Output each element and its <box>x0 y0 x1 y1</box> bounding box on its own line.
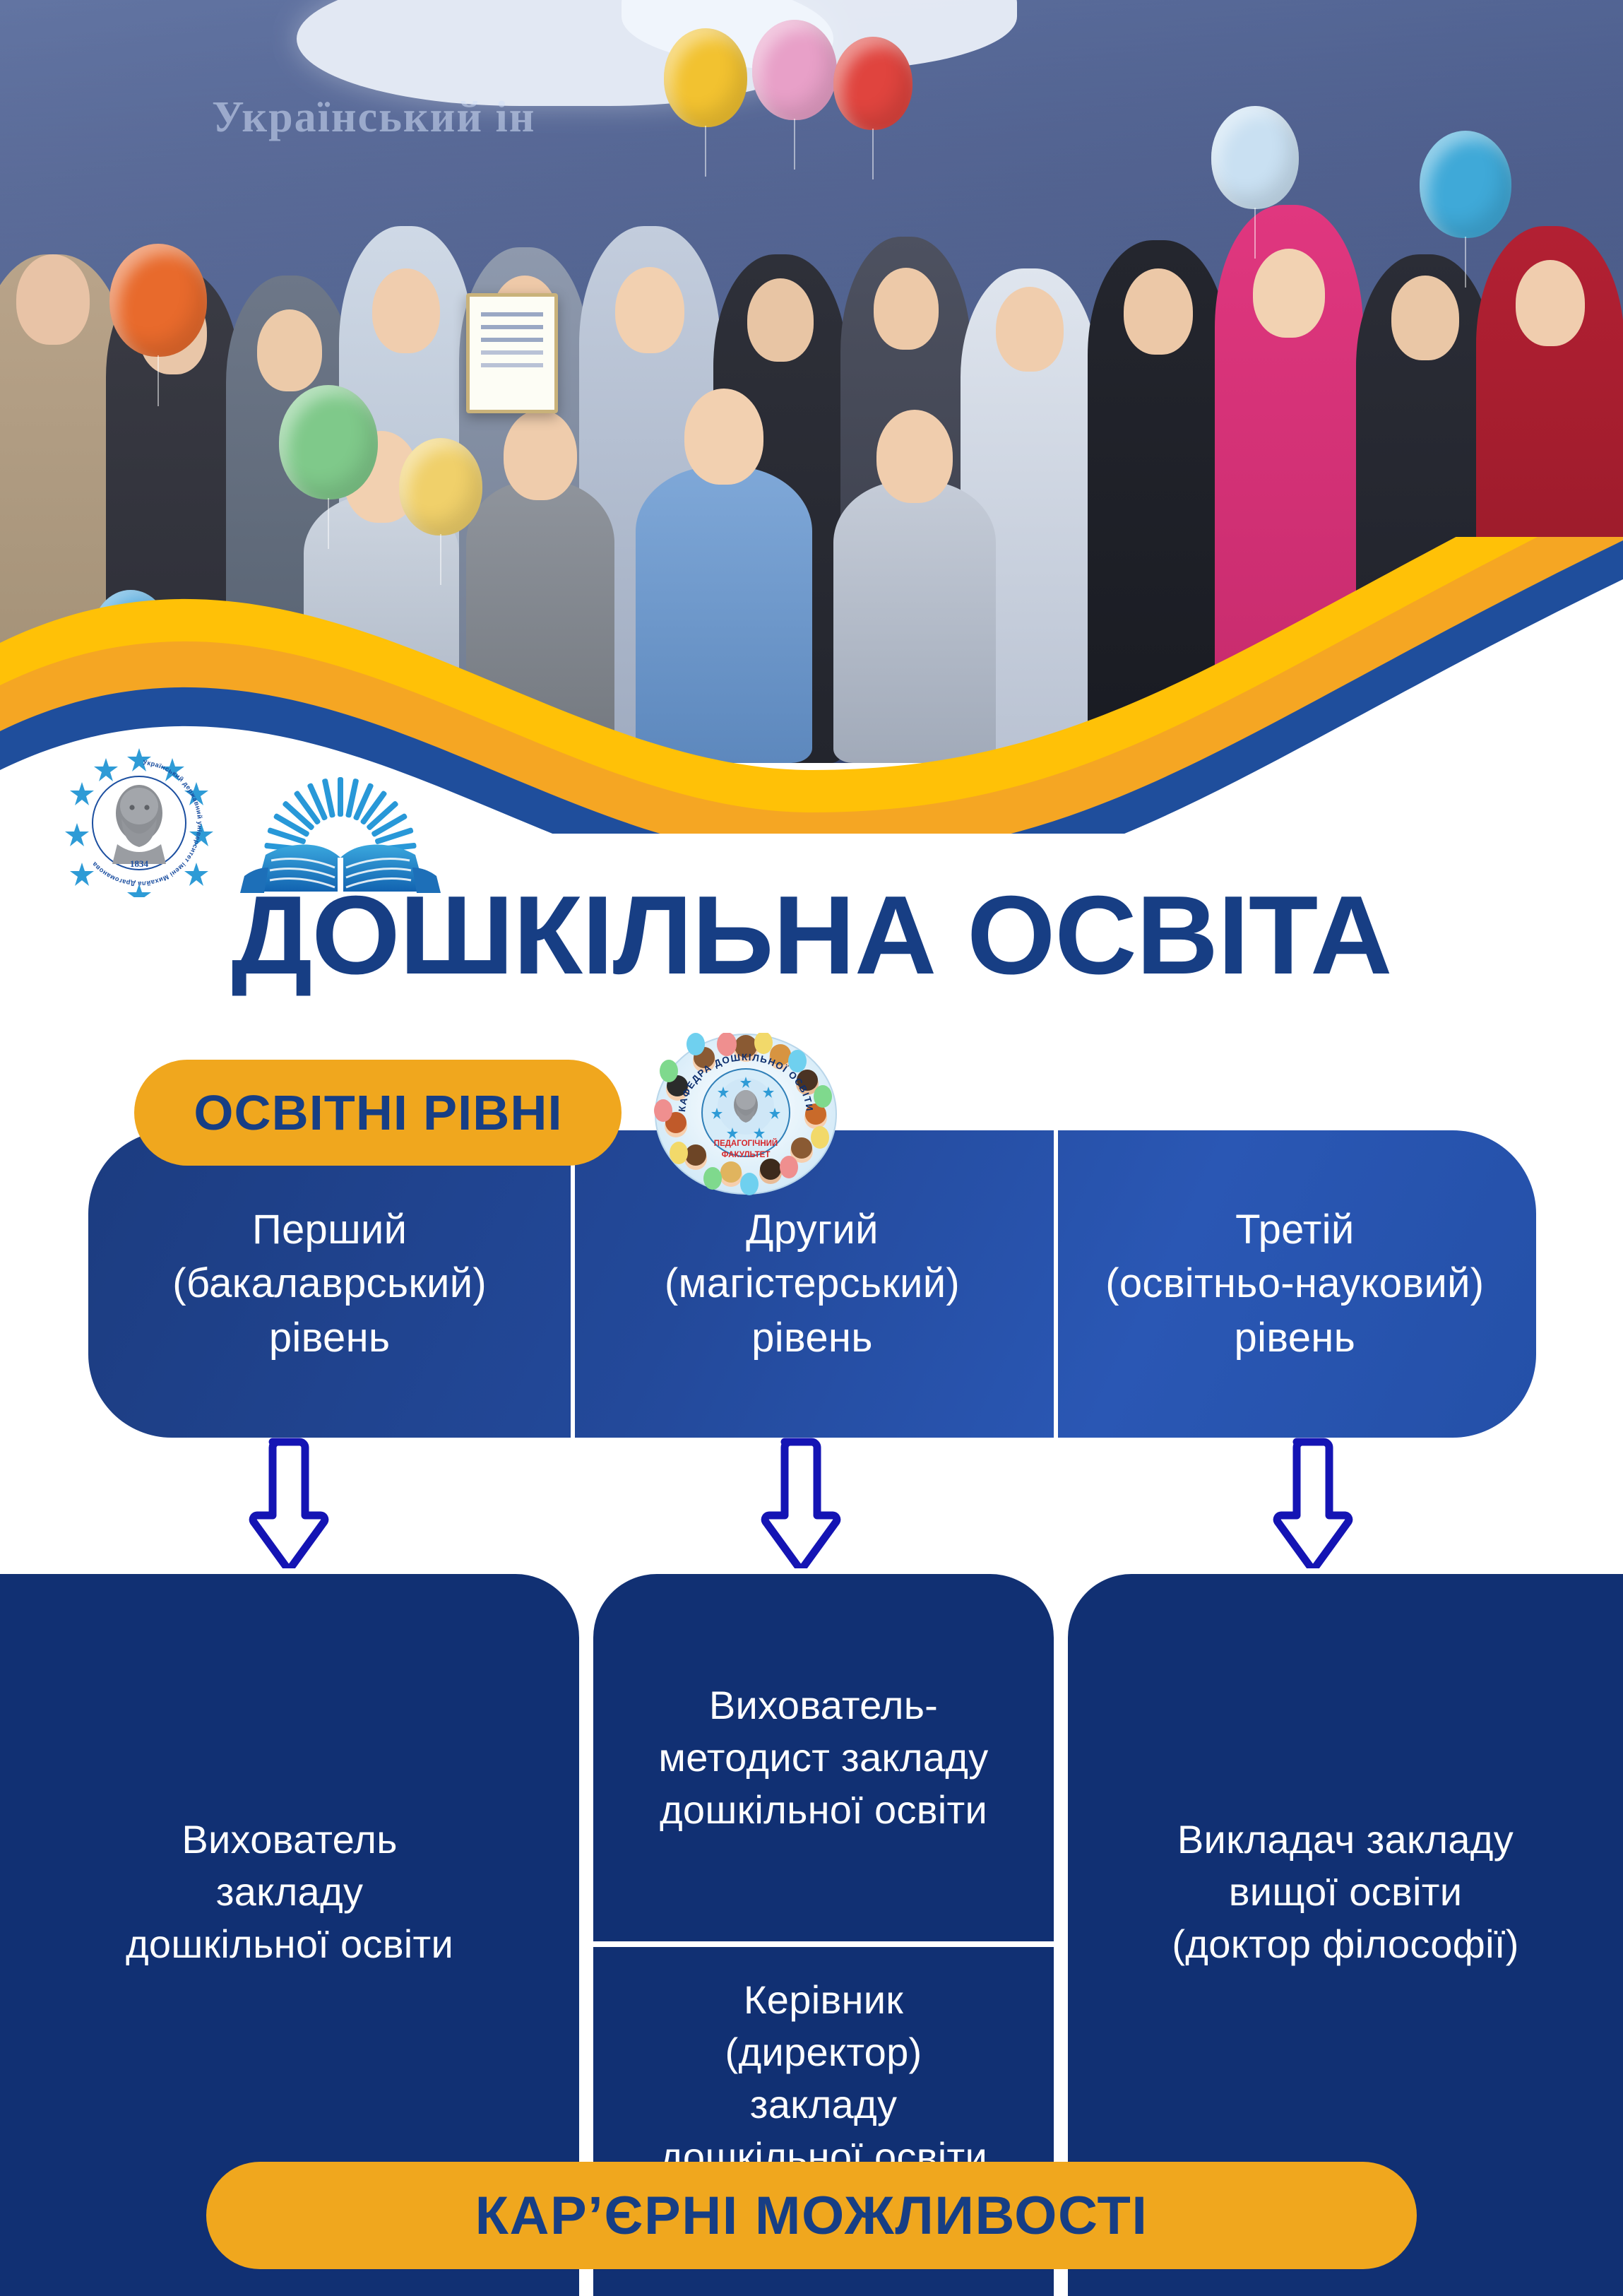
arrow-row <box>0 1438 1623 1572</box>
svg-text:ПЕДАГОГІЧНИЙ: ПЕДАГОГІЧНИЙ <box>714 1139 778 1148</box>
level-label: Третій (освітньо-науковий) рівень <box>1105 1203 1484 1366</box>
career-opportunities-label: КАР’ЄРНІ МОЖЛИВОСТІ <box>475 2185 1148 2247</box>
education-levels-section: Перший (бакалаврський) рівень Другий (ма… <box>0 1060 1623 1441</box>
person <box>1088 240 1229 763</box>
career-column-second: Вихователь- методист закладу дошкільної … <box>593 1574 1054 2210</box>
certificate <box>466 293 558 413</box>
balloon <box>279 385 378 499</box>
balloon <box>92 590 170 680</box>
career-card-divider <box>593 1941 1054 1947</box>
person <box>1356 254 1494 763</box>
balloon <box>109 244 207 357</box>
person <box>833 480 996 763</box>
career-opportunities-banner: КАР’ЄРНІ МОЖЛИВОСТІ <box>206 2162 1417 2269</box>
svg-text:ФАКУЛЬТЕТ: ФАКУЛЬТЕТ <box>722 1151 771 1159</box>
level-item-first[interactable]: Перший (бакалаврський) рівень <box>88 1130 571 1438</box>
career-column-third: Викладач закладу вищої освіти (доктор фі… <box>1068 1574 1623 2210</box>
balloon <box>752 20 837 120</box>
career-column-first: Вихователь закладу дошкільної освіти <box>0 1574 579 2210</box>
svg-text:1834: 1834 <box>130 858 149 869</box>
balloon <box>1420 131 1511 238</box>
person <box>1215 205 1363 763</box>
arrow-down-icon <box>745 1438 851 1568</box>
level-label: Другий (магістерський) рівень <box>665 1203 960 1366</box>
career-card-educator[interactable]: Вихователь закладу дошкільної освіти <box>0 1574 579 2210</box>
balloon <box>399 438 482 535</box>
header-photo: Український ін <box>0 0 1623 763</box>
arrow-down-icon <box>233 1438 339 1568</box>
career-card-lecturer[interactable]: Викладач закладу вищої освіти (доктор фі… <box>1068 1574 1623 2210</box>
balloon <box>833 37 912 130</box>
level-label: Перший (бакалаврський) рівень <box>172 1203 487 1366</box>
person <box>466 480 614 763</box>
career-options-section: Вихователь закладу дошкільної освіти Вих… <box>0 1574 1623 2210</box>
person <box>1476 226 1623 763</box>
balloon <box>664 28 747 127</box>
career-card-methodologist[interactable]: Вихователь- методист закладу дошкільної … <box>593 1574 1054 1941</box>
arrow-down-icon <box>1257 1438 1363 1568</box>
education-levels-badge: ОСВІТНІ РІВНІ <box>134 1060 622 1166</box>
page-title: ДОШКІЛЬНА ОСВІТА <box>0 880 1623 991</box>
university-seal-icon: 1834 Український державний університет і… <box>65 745 213 897</box>
balloon <box>1211 106 1299 209</box>
education-levels-badge-label: ОСВІТНІ РІВНІ <box>194 1084 562 1141</box>
crowd-of-people <box>0 0 1623 763</box>
faculty-emblem-icon: КАФЕДРА ДОШКІЛЬНОЇ ОСВІТИ ПЕДАГОГІЧНИЙ Ф… <box>653 1033 838 1195</box>
person <box>636 466 812 763</box>
level-item-third[interactable]: Третій (освітньо-науковий) рівень <box>1054 1130 1536 1438</box>
